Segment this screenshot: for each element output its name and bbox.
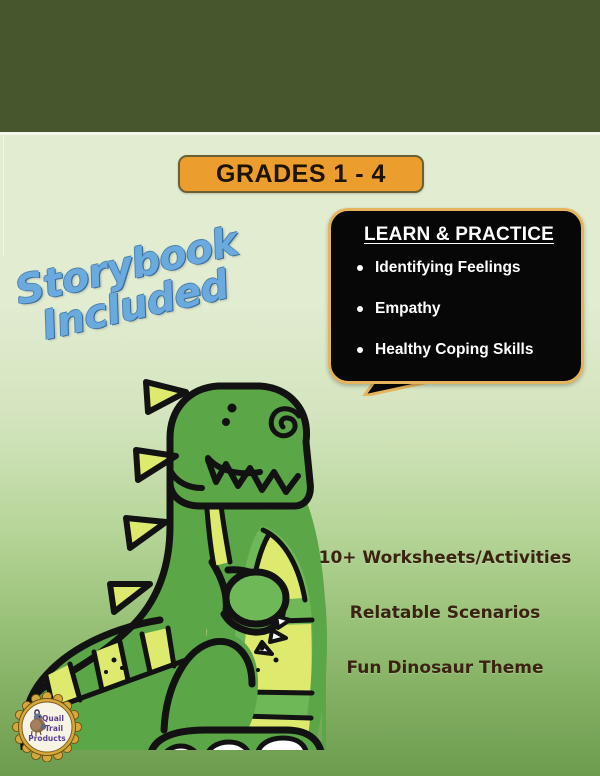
- dinosaur-illustration: [10, 330, 370, 750]
- list-item: Empathy: [353, 300, 579, 318]
- speech-bubble-body: LEARN & PRACTICE Identifying Feelings Em…: [328, 208, 584, 384]
- stage-left-rule: [3, 136, 4, 256]
- feature-item: Relatable Scenarios: [310, 603, 580, 623]
- logo-line-3: Products: [28, 734, 66, 743]
- quail-trail-products-logo: Quail Trail Products: [12, 692, 82, 762]
- callout-heading: LEARN & PRACTICE: [331, 224, 587, 246]
- product-cover: SOCIAL/EMOTIONAL WORKSHEETS & ACTIVITIES: [0, 0, 600, 776]
- feature-item: Fun Dinosaur Theme: [310, 658, 580, 678]
- grades-badge-label: GRADES 1 - 4: [216, 160, 386, 189]
- list-item: Healthy Coping Skills: [353, 341, 579, 359]
- feature-item: 10+ Worksheets/Activities: [310, 548, 580, 568]
- list-item: Identifying Feelings: [353, 259, 579, 277]
- logo-line-2: Trail: [45, 724, 63, 733]
- feature-list: 10+ Worksheets/Activities Relatable Scen…: [310, 548, 580, 678]
- logo-line-1: Quail: [42, 714, 64, 723]
- callout-list: Identifying Feelings Empathy Healthy Cop…: [353, 259, 579, 382]
- learn-practice-callout: LEARN & PRACTICE Identifying Feelings Em…: [328, 208, 584, 396]
- header-band: [0, 0, 600, 132]
- grades-badge: GRADES 1 - 4: [178, 155, 424, 193]
- stage-top-rule: [0, 132, 600, 135]
